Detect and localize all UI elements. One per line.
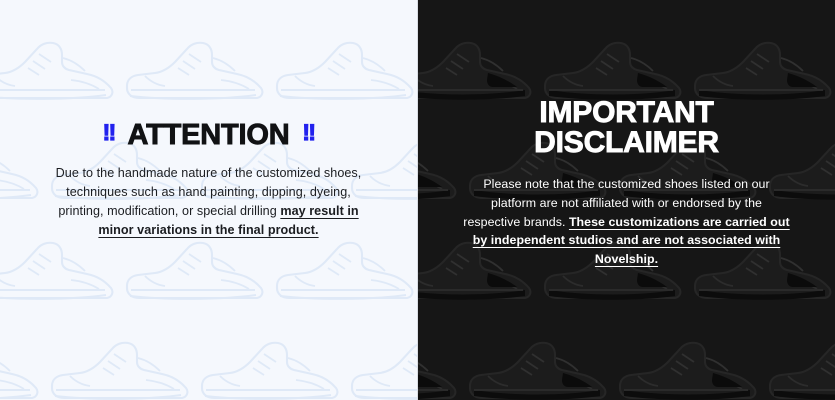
disclaimer-panel: IMPORTANT DISCLAIMER Please note that th… <box>417 0 835 400</box>
disclaimer-heading-line1: IMPORTANT <box>462 98 792 129</box>
disclaimer-heading: IMPORTANT DISCLAIMER <box>462 98 792 160</box>
attention-panel: ‼ ATTENTION ‼ Due to the handmade nature… <box>0 0 417 400</box>
double-exclamation-right-icon: ‼ <box>302 122 314 145</box>
attention-heading-word: ATTENTION <box>128 120 290 150</box>
double-exclamation-left-icon: ‼ <box>103 122 115 145</box>
disclaimer-content: IMPORTANT DISCLAIMER Please note that th… <box>462 98 792 303</box>
disclaimer-heading-line2: DISCLAIMER <box>462 128 792 159</box>
attention-body: Due to the handmade nature of the custom… <box>44 164 374 241</box>
attention-content: ‼ ATTENTION ‼ Due to the handmade nature… <box>44 120 374 281</box>
disclaimer-banner: ‼ ATTENTION ‼ Due to the handmade nature… <box>0 0 835 400</box>
disclaimer-body: Please note that the customized shoes li… <box>462 175 792 268</box>
attention-heading: ‼ ATTENTION ‼ <box>44 120 374 150</box>
